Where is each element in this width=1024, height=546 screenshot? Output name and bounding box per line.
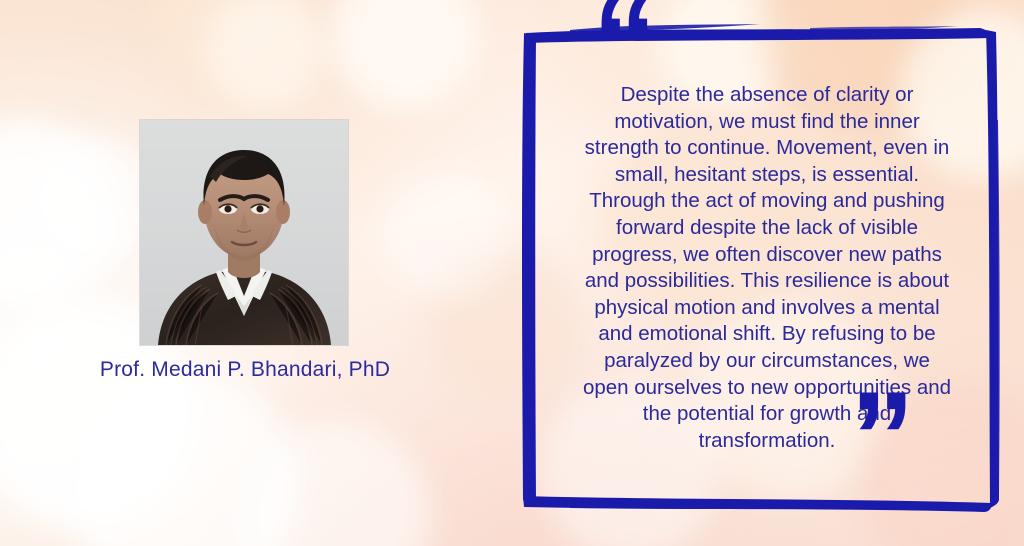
- portrait-illustration: [140, 120, 348, 345]
- quote-card: Prof. Medani P. Bhandari, PhD “ Despite …: [0, 0, 1024, 546]
- portrait-photo: [140, 120, 348, 345]
- portrait-caption: Prof. Medani P. Bhandari, PhD: [0, 358, 490, 382]
- quote-section: “ Despite the absence of clarity or moti…: [510, 0, 1024, 546]
- portrait-section: Prof. Medani P. Bhandari, PhD: [0, 0, 510, 546]
- quote-text: Despite the absence of clarity or motiva…: [538, 82, 996, 454]
- close-quote-icon: ”: [850, 372, 915, 502]
